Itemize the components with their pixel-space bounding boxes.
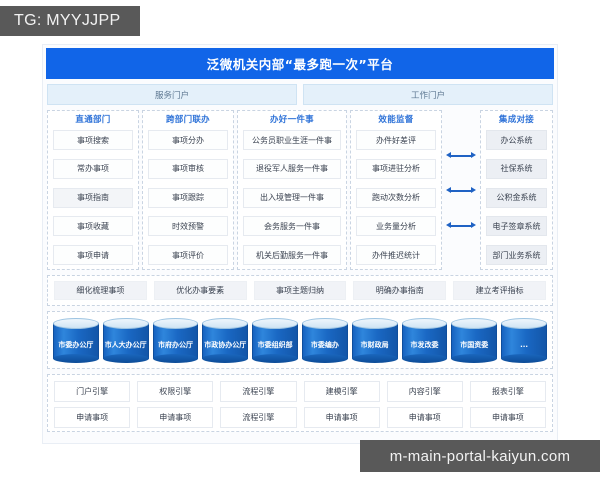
arrow-shaft xyxy=(450,225,472,227)
cell-item[interactable]: 办公系统 xyxy=(486,130,547,150)
page-title: 泛微机关内部“最多跑一次”平台 xyxy=(46,48,554,79)
cell-item[interactable]: 事项指南 xyxy=(53,188,133,208)
column-items-one-thing-done-well: 公务员职业生涯一件事 退役军人服务一件事 出入境管理一件事 会务服务一件事 机关… xyxy=(243,130,341,265)
cylinder-label: 市发改委 xyxy=(402,331,448,359)
cylinder-top xyxy=(352,318,398,329)
cylinder-label: 市国资委 xyxy=(451,331,497,359)
column-direct-department: 直通部门 事项搜索 常办事项 事项指南 事项收藏 事项申请 xyxy=(47,110,139,270)
column-heading-integration-docking: 集成对接 xyxy=(486,115,547,126)
column-cross-department: 跨部门联办 事项分办 事项审核 事项跟踪 时效预警 事项评价 xyxy=(142,110,234,270)
database-cylinder-icon[interactable]: 市政协办公厅 xyxy=(202,318,248,363)
engine-item[interactable]: 流程引擎 xyxy=(220,407,296,428)
arrow-shaft xyxy=(450,155,472,157)
database-cylinder-icon[interactable]: 市财政局 xyxy=(352,318,398,363)
watermark-top-left: TG: MYYJJPP xyxy=(0,6,140,36)
cell-item[interactable]: 事项审核 xyxy=(148,159,228,179)
column-items-direct-department: 事项搜索 常办事项 事项指南 事项收藏 事项申请 xyxy=(53,130,133,265)
cylinder-label: 市委办公厅 xyxy=(53,331,99,359)
database-cylinder-icon[interactable]: ... xyxy=(501,318,547,363)
database-cylinder-icon[interactable]: 市委编办 xyxy=(302,318,348,363)
cylinder-label: 市人大办公厅 xyxy=(103,331,149,359)
cell-item[interactable]: 公务员职业生涯一件事 xyxy=(243,130,341,150)
double-arrow-icon xyxy=(446,221,476,230)
cylinder-top xyxy=(402,318,448,329)
column-integration-docking: 集成对接 办公系统 社保系统 公积金系统 电子签章系统 部门业务系统 xyxy=(480,110,553,270)
connector-gutter xyxy=(445,110,477,270)
column-heading-cross-department: 跨部门联办 xyxy=(148,115,228,126)
database-cylinder-icon[interactable]: 市委办公厅 xyxy=(53,318,99,363)
capability-item[interactable]: 建立考评指标 xyxy=(453,281,546,300)
arrow-head-right xyxy=(471,152,476,158)
column-efficiency-supervision: 效能监督 办件好差评 事项进驻分析 跑动次数分析 业务量分析 办件推迟统计 xyxy=(350,110,442,270)
database-cylinder-icon[interactable]: 市发改委 xyxy=(402,318,448,363)
cylinder-top xyxy=(501,318,547,329)
cell-item[interactable]: 事项搜索 xyxy=(53,130,133,150)
portal-work[interactable]: 工作门户 xyxy=(303,84,553,105)
diagram-canvas: TG: MYYJJPP 泛微机关内部“最多跑一次”平台 服务门户 工作门户 直通… xyxy=(0,0,600,480)
cell-item[interactable]: 跑动次数分析 xyxy=(356,188,436,208)
database-cylinder-icon[interactable]: 市国资委 xyxy=(451,318,497,363)
platform-architecture-card: 泛微机关内部“最多跑一次”平台 服务门户 工作门户 直通部门 事项搜索 常办事项… xyxy=(42,44,558,444)
cell-item[interactable]: 事项申请 xyxy=(53,245,133,265)
column-heading-direct-department: 直通部门 xyxy=(53,115,133,126)
cylinder-top xyxy=(53,318,99,329)
cell-item[interactable]: 常办事项 xyxy=(53,159,133,179)
cell-item[interactable]: 办件推迟统计 xyxy=(356,245,436,265)
double-arrow-icon xyxy=(446,151,476,160)
engine-row-secondary: 申请事项 申请事项 流程引擎 申请事项 申请事项 申请事项 xyxy=(54,407,546,428)
cell-item[interactable]: 事项分办 xyxy=(148,130,228,150)
engine-item[interactable]: 流程引擎 xyxy=(220,381,296,402)
cell-item[interactable]: 会务服务一件事 xyxy=(243,216,341,236)
database-cylinder-icon[interactable]: 市人大办公厅 xyxy=(103,318,149,363)
cylinder-top xyxy=(252,318,298,329)
portal-service[interactable]: 服务门户 xyxy=(47,84,297,105)
engine-row-primary: 门户引擎 权限引擎 流程引擎 建模引擎 内容引擎 报表引擎 xyxy=(54,381,546,402)
capability-row: 细化梳理事项 优化办事要素 事项主题归纳 明确办事指南 建立考评指标 xyxy=(54,281,546,300)
cylinder-label: 市财政局 xyxy=(352,331,398,359)
capability-item[interactable]: 明确办事指南 xyxy=(353,281,446,300)
engine-item[interactable]: 报表引擎 xyxy=(470,381,546,402)
cylinder-label: 市政协办公厅 xyxy=(202,331,248,359)
engine-item[interactable]: 申请事项 xyxy=(137,407,213,428)
function-columns-band: 直通部门 事项搜索 常办事项 事项指南 事项收藏 事项申请 跨部门联办 事项分办… xyxy=(47,110,553,270)
cell-item[interactable]: 时效预警 xyxy=(148,216,228,236)
engine-item[interactable]: 申请事项 xyxy=(470,407,546,428)
cylinder-top xyxy=(302,318,348,329)
engine-item[interactable]: 建模引擎 xyxy=(304,381,380,402)
arrow-head-right xyxy=(471,187,476,193)
engine-item[interactable]: 申请事项 xyxy=(54,407,130,428)
cell-item[interactable]: 机关后勤服务一件事 xyxy=(243,245,341,265)
engine-item[interactable]: 门户引擎 xyxy=(54,381,130,402)
cell-item[interactable]: 出入境管理一件事 xyxy=(243,188,341,208)
column-heading-efficiency-supervision: 效能监督 xyxy=(356,115,436,126)
double-arrow-icon xyxy=(446,186,476,195)
portal-row: 服务门户 工作门户 xyxy=(47,84,553,105)
cell-item[interactable]: 事项收藏 xyxy=(53,216,133,236)
column-items-cross-department: 事项分办 事项审核 事项跟踪 时效预警 事项评价 xyxy=(148,130,228,265)
database-cylinder-icon[interactable]: 市委组织部 xyxy=(252,318,298,363)
capability-item[interactable]: 优化办事要素 xyxy=(154,281,247,300)
cell-item[interactable]: 部门业务系统 xyxy=(486,245,547,265)
cylinder-label: 市府办公厅 xyxy=(153,331,199,359)
cell-item[interactable]: 公积金系统 xyxy=(486,188,547,208)
database-cylinder-icon[interactable]: 市府办公厅 xyxy=(153,318,199,363)
cell-item[interactable]: 退役军人服务一件事 xyxy=(243,159,341,179)
capability-item[interactable]: 事项主题归纳 xyxy=(254,281,347,300)
watermark-bottom-right: m-main-portal-kaiyun.com xyxy=(360,440,600,472)
column-items-integration-docking: 办公系统 社保系统 公积金系统 电子签章系统 部门业务系统 xyxy=(486,130,547,265)
cylinder-top xyxy=(153,318,199,329)
engine-item[interactable]: 申请事项 xyxy=(304,407,380,428)
engine-item[interactable]: 申请事项 xyxy=(387,407,463,428)
cylinder-label: 市委组织部 xyxy=(252,331,298,359)
column-items-efficiency-supervision: 办件好差评 事项进驻分析 跑动次数分析 业务量分析 办件推迟统计 xyxy=(356,130,436,265)
capability-section: 细化梳理事项 优化办事要素 事项主题归纳 明确办事指南 建立考评指标 xyxy=(47,275,553,306)
department-datasource-section: 市委办公厅 市人大办公厅 市府办公厅 xyxy=(47,311,553,369)
engine-item[interactable]: 权限引擎 xyxy=(137,381,213,402)
cell-item[interactable]: 办件好差评 xyxy=(356,130,436,150)
engine-section: 门户引擎 权限引擎 流程引擎 建模引擎 内容引擎 报表引擎 申请事项 申请事项 … xyxy=(47,374,553,432)
cell-item[interactable]: 电子签章系统 xyxy=(486,216,547,236)
column-heading-one-thing-done-well: 办好一件事 xyxy=(243,115,341,126)
arrow-head-right xyxy=(471,222,476,228)
cell-item[interactable]: 事项评价 xyxy=(148,245,228,265)
cylinder-label: ... xyxy=(501,331,547,359)
arrow-shaft xyxy=(450,190,472,192)
cylinder-top xyxy=(451,318,497,329)
cell-item[interactable]: 业务量分析 xyxy=(356,216,436,236)
cylinder-top xyxy=(202,318,248,329)
cylinder-top xyxy=(103,318,149,329)
department-cylinder-row: 市委办公厅 市人大办公厅 市府办公厅 xyxy=(53,318,547,361)
cell-item[interactable]: 事项跟踪 xyxy=(148,188,228,208)
cell-item[interactable]: 社保系统 xyxy=(486,159,547,179)
cell-item[interactable]: 事项进驻分析 xyxy=(356,159,436,179)
engine-item[interactable]: 内容引擎 xyxy=(387,381,463,402)
cylinder-label: 市委编办 xyxy=(302,331,348,359)
column-one-thing-done-well: 办好一件事 公务员职业生涯一件事 退役军人服务一件事 出入境管理一件事 会务服务… xyxy=(237,110,347,270)
capability-item[interactable]: 细化梳理事项 xyxy=(54,281,147,300)
